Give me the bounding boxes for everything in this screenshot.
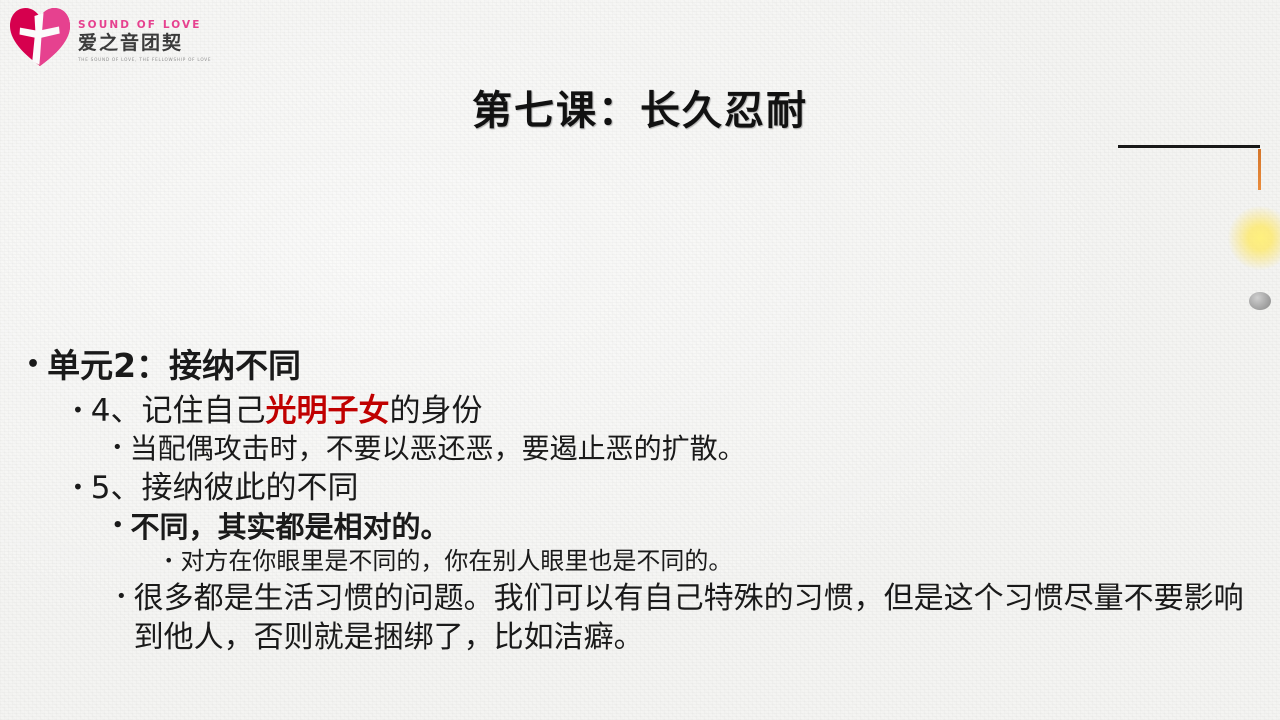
bullet-text-suffix: 的身份 [390,393,483,429]
bullet-dot-icon: • [112,517,124,535]
bullet-text: 5、接纳彼此的不同 [91,469,1280,507]
bullet-level1-unit: • 单元2：接纳不同 [0,346,1280,387]
bullet-level3-habits: • 很多都是生活习惯的问题。我们可以有自己特殊的习惯，但是这个习惯尽量不要影响到… [0,579,1280,657]
bullet-level3-relative: • 不同，其实都是相对的。 [0,510,1280,546]
lamp-glow-icon [1228,206,1280,270]
bullet-level2-item4: • 4、记住自己光明子女的身份 [0,392,1280,430]
logo-english-name: SOUND OF LOVE [78,20,211,31]
bullet-text: 单元2：接纳不同 [47,346,1280,387]
bullet-dot-icon: • [116,588,127,606]
bullet-level4-perspective: • 对方在你眼里是不同的，你在别人眼里也是不同的。 [0,547,1280,577]
bullet-text: 4、记住自己光明子女的身份 [91,392,1280,430]
bullet-level3-spouse-attack: • 当配偶攻击时，不要以恶还恶，要遏止恶的扩散。 [0,432,1280,467]
logo-tagline: THE SOUND OF LOVE, THE FELLOWSHIP OF LOV… [78,58,211,62]
bullet-text: 很多都是生活习惯的问题。我们可以有自己特殊的习惯，但是这个习惯尽量不要影响到他人… [134,579,1244,657]
bullet-level2-item5: • 5、接纳彼此的不同 [0,469,1280,507]
bullet-dot-icon: • [112,439,123,457]
logo-wordmark: SOUND OF LOVE 爱之音团契 THE SOUND OF LOVE, T… [78,12,211,62]
logo-chinese-name: 爱之音团契 [78,34,211,54]
bullet-text-highlight: 光明子女 [266,393,390,429]
lamp-cord-icon [1258,149,1261,190]
organization-logo: SOUND OF LOVE 爱之音团契 THE SOUND OF LOVE, T… [8,4,1280,70]
presentation-slide: SOUND OF LOVE 爱之音团契 THE SOUND OF LOVE, T… [0,0,1280,720]
lamp-bulb-icon [1249,292,1271,310]
heart-cross-icon [8,4,72,70]
slide-body: • 单元2：接纳不同 • 4、记住自己光明子女的身份 • 当配偶攻击时，不要以恶… [0,346,1280,657]
bullet-text-prefix: 4、记住自己 [91,393,266,429]
slide-title: 第七课：长久忍耐 [0,78,1280,136]
bullet-dot-icon: • [72,400,84,420]
bullet-dot-icon: • [164,553,173,569]
bullet-text: 对方在你眼里是不同的，你在别人眼里也是不同的。 [180,547,1280,577]
bullet-text: 当配偶攻击时，不要以恶还恶，要遏止恶的扩散。 [130,432,1280,467]
bullet-dot-icon: • [72,477,84,497]
bullet-dot-icon: • [26,354,40,376]
bullet-text: 不同，其实都是相对的。 [131,510,1280,546]
lamp-rod-icon [1118,145,1260,148]
